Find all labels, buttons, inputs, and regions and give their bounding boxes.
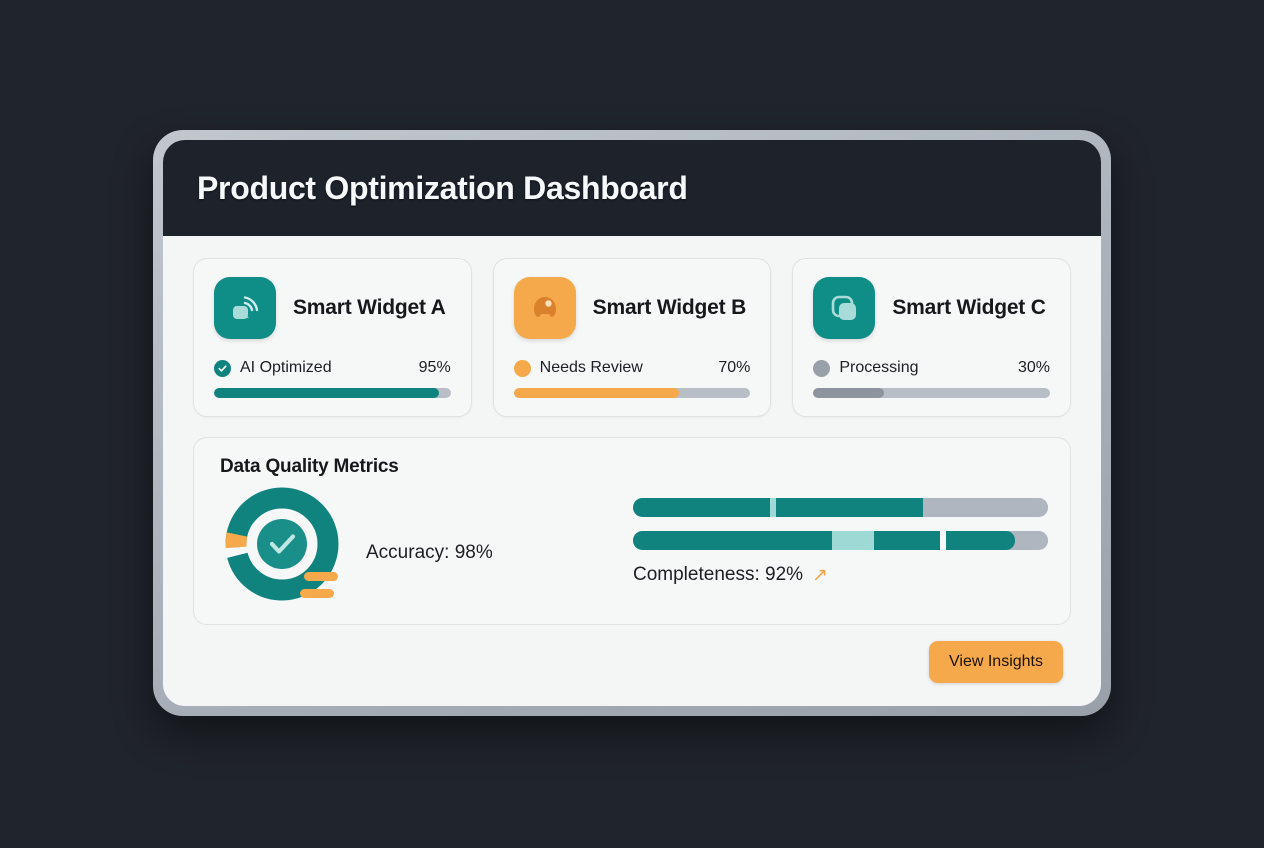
dashboard-body: Smart Widget A AI Optimized 95% — [163, 236, 1101, 706]
metrics-title: Data Quality Metrics — [220, 456, 1048, 478]
widget-head: Smart Widget B — [514, 277, 751, 339]
bar-segment — [946, 531, 1014, 550]
widget-status-row: AI Optimized 95% — [214, 359, 451, 377]
progress-bar-a — [214, 388, 451, 398]
header-bar: Product Optimization Dashboard — [163, 140, 1101, 236]
widget-row: Smart Widget A AI Optimized 95% — [193, 258, 1071, 417]
status-percent: 95% — [419, 359, 451, 377]
progress-fill — [514, 388, 680, 398]
widget-card-a[interactable]: Smart Widget A AI Optimized 95% — [193, 258, 472, 417]
widget-head: Smart Widget C — [813, 277, 1050, 339]
bar-segment — [874, 531, 940, 550]
widget-name: Smart Widget B — [593, 296, 746, 320]
widget-head: Smart Widget A — [214, 277, 451, 339]
quality-bars: Completeness: 92% ↗ — [633, 486, 1048, 586]
status-percent: 30% — [1018, 359, 1050, 377]
progress-fill — [214, 388, 439, 398]
widget-status-row: Needs Review 70% — [514, 359, 751, 377]
device-screen: Product Optimization Dashboard — [163, 140, 1101, 706]
page-title: Product Optimization Dashboard — [197, 170, 688, 207]
trend-up-arrow-icon: ↗ — [812, 566, 828, 585]
layers-copy-icon — [813, 277, 875, 339]
metrics-content: Accuracy: 98% — [220, 486, 1048, 604]
bar-segment — [633, 531, 832, 550]
bar-segment — [776, 498, 923, 517]
check-circle-icon — [214, 360, 231, 377]
signal-broadcast-icon — [214, 277, 276, 339]
progress-bar-c — [813, 388, 1050, 398]
widget-card-c[interactable]: Smart Widget C Processing 30% — [792, 258, 1071, 417]
device-frame: Product Optimization Dashboard — [153, 130, 1111, 716]
segmented-bar-bottom — [633, 531, 1048, 550]
status-label: Needs Review — [540, 359, 719, 377]
blob-shape-icon — [514, 277, 576, 339]
donut-chart — [220, 486, 352, 604]
bar-segment — [832, 531, 874, 550]
segmented-bar-top — [633, 498, 1048, 517]
completeness-text: Completeness: 92% — [633, 564, 803, 586]
progress-fill — [813, 388, 884, 398]
status-percent: 70% — [718, 359, 750, 377]
footer-row: View Insights — [193, 625, 1071, 683]
widget-name: Smart Widget C — [892, 296, 1045, 320]
dot-icon — [813, 360, 830, 377]
bar-segment — [923, 498, 1048, 517]
view-insights-button[interactable]: View Insights — [929, 641, 1063, 683]
completeness-label: Completeness: 92% ↗ — [633, 564, 1048, 586]
metrics-panel: Data Quality Metrics — [193, 437, 1071, 625]
accuracy-label: Accuracy: 98% — [366, 542, 493, 564]
widget-name: Smart Widget A — [293, 296, 446, 320]
dot-icon — [514, 360, 531, 377]
widget-status-row: Processing 30% — [813, 359, 1050, 377]
progress-bar-b — [514, 388, 751, 398]
status-label: AI Optimized — [240, 359, 419, 377]
bar-segment — [633, 498, 770, 517]
status-label: Processing — [839, 359, 1018, 377]
widget-card-b[interactable]: Smart Widget B Needs Review 70% — [493, 258, 772, 417]
bar-segment — [1015, 531, 1048, 550]
